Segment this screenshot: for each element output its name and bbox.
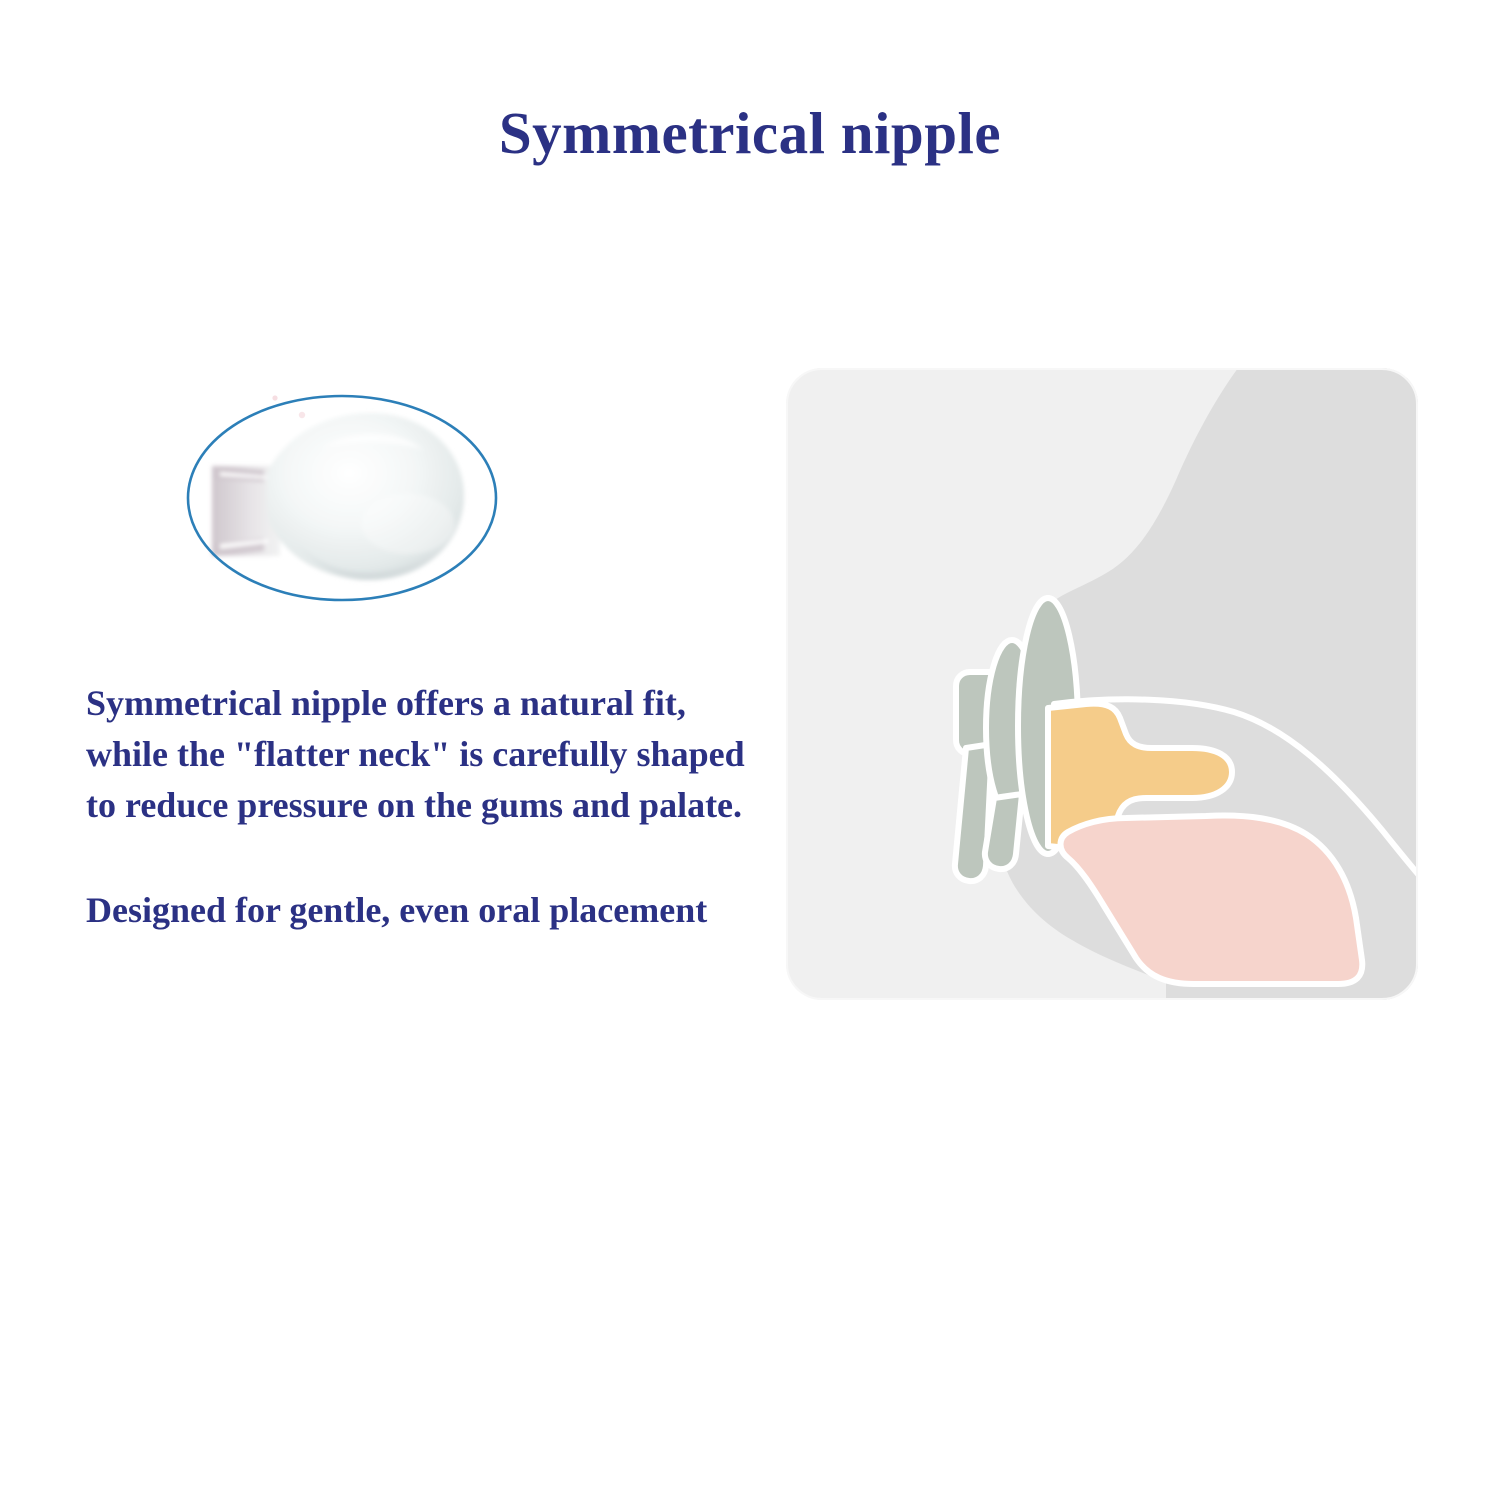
nipple-highlight-spot	[362, 494, 454, 554]
photo-speck-one	[272, 395, 277, 400]
oral-placement-illustration	[786, 368, 1418, 1000]
page-title: Symmetrical nipple	[0, 103, 1500, 165]
pacifier-shield-inner-stem	[985, 794, 1022, 869]
paragraph-secondary: Designed for gentle, even oral placement	[86, 885, 756, 936]
photo-speck-two	[299, 412, 305, 418]
product-photo-figure	[172, 378, 512, 618]
paragraph-primary: Symmetrical nipple offers a natural fit,…	[86, 678, 756, 831]
nipple-photo-content	[212, 413, 464, 580]
body-copy: Symmetrical nipple offers a natural fit,…	[86, 678, 756, 936]
